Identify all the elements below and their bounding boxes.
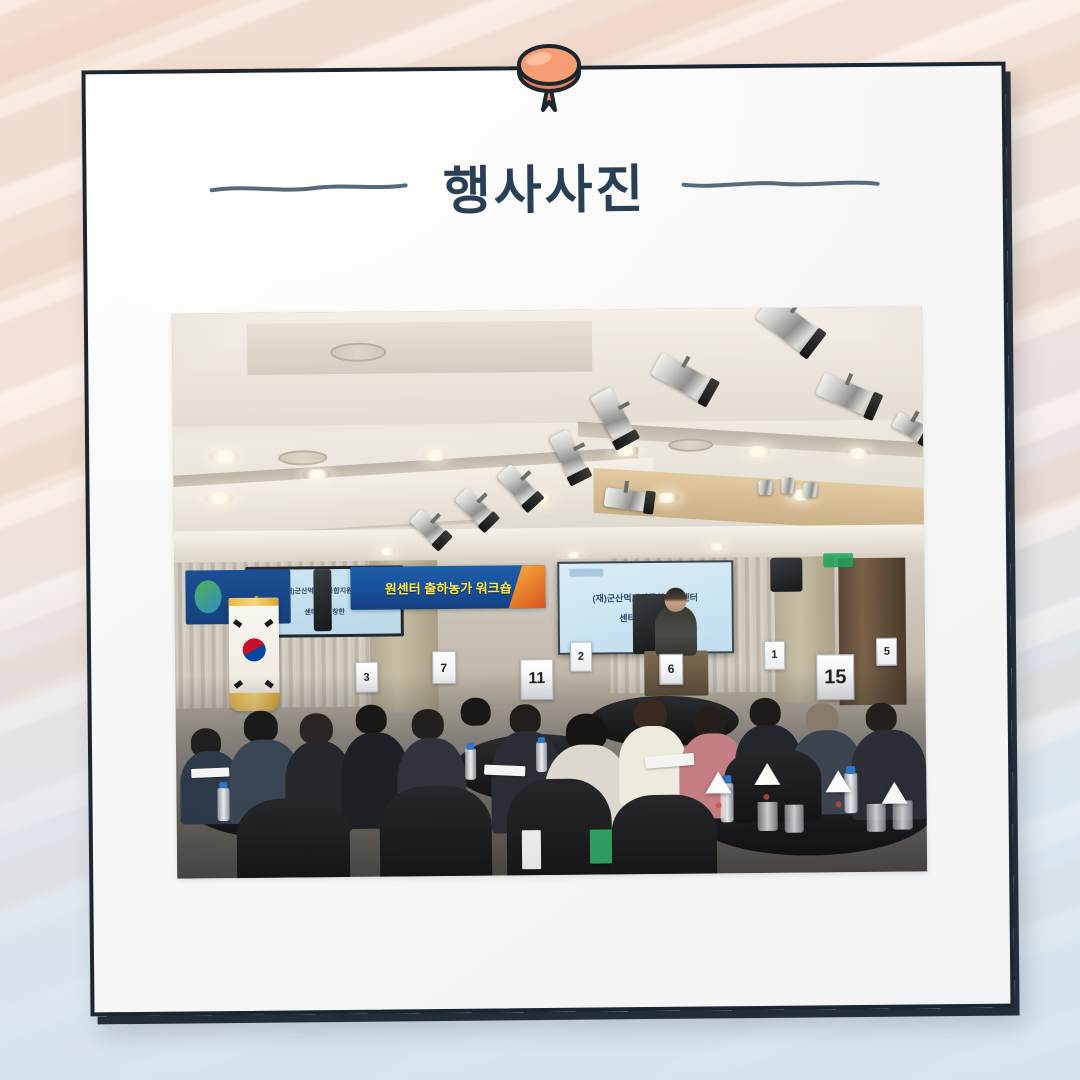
av-rack	[313, 569, 332, 631]
event-banner-text: 원센터 출하농가 워크숍	[385, 578, 512, 598]
drinking-glass	[893, 801, 913, 829]
event-banner: 원센터 출하농가 워크숍	[351, 565, 546, 610]
audience-person	[633, 699, 666, 730]
ceiling-recess-panel	[247, 321, 592, 375]
photo-card: 행사사진	[81, 62, 1014, 1017]
presenter	[655, 605, 697, 656]
drinking-glass	[784, 805, 804, 833]
folded-napkin	[705, 772, 731, 794]
water-bottle	[218, 788, 230, 822]
ceiling-fixture-icon	[758, 480, 772, 495]
ceiling-fixture-icon	[803, 483, 817, 498]
napkin-logo-icon	[715, 803, 721, 809]
flag-fringe-top	[229, 598, 279, 606]
chair	[611, 794, 717, 878]
drinking-glass	[867, 804, 887, 832]
audience-person	[461, 698, 491, 727]
handout-paper	[191, 767, 229, 778]
page-title: 행사사진	[443, 147, 647, 224]
event-photo: (재)군산먹거리통합지원센터 센터장 이창한 원센터 출하농가 워크숍	[172, 306, 927, 878]
squiggle-divider-right-icon	[680, 174, 880, 192]
water-bottle	[536, 742, 548, 771]
folded-napkin	[825, 770, 851, 792]
chair	[236, 798, 349, 879]
downlight-icon	[302, 469, 331, 481]
audience-person	[866, 702, 898, 732]
audience-person	[299, 713, 332, 744]
downlight-icon	[743, 446, 772, 458]
audience-person	[509, 704, 541, 734]
squiggle-divider-left-icon	[209, 179, 409, 197]
chair	[379, 785, 492, 878]
table-number-placard: 1	[764, 641, 785, 669]
photo-card-wrapper: 행사사진	[81, 62, 1014, 1017]
audience-person	[693, 707, 725, 737]
taeguk-symbol-icon	[238, 635, 269, 666]
drinking-glass	[758, 802, 778, 830]
table-number-placard: 2	[569, 642, 592, 672]
audience-person	[749, 698, 781, 728]
folded-napkin	[754, 763, 780, 785]
audience-person	[806, 703, 839, 734]
audience-person	[356, 704, 388, 734]
water-bottle	[465, 749, 477, 780]
downlight-icon	[377, 548, 397, 556]
napkin-logo-icon	[835, 802, 841, 808]
trigram-icon	[264, 619, 273, 627]
screen-tab-icon	[569, 569, 604, 577]
downlight-icon	[208, 450, 241, 464]
page-stage: 행사사진	[0, 0, 1080, 1080]
exit-sign-icon	[823, 553, 853, 568]
presenter-head	[665, 588, 687, 612]
downlight-icon	[844, 448, 871, 459]
ceiling-fixture-icon	[781, 477, 795, 494]
handout-paper	[484, 764, 526, 776]
card-header: 행사사진	[86, 144, 1003, 228]
push-pin-icon[interactable]	[505, 28, 593, 116]
audience-person	[412, 709, 444, 739]
handout-paper	[522, 830, 542, 870]
banner-accent-icon	[509, 565, 546, 608]
trigram-icon	[234, 619, 243, 627]
folded-napkin	[881, 781, 907, 803]
table-number-placard: 5	[876, 637, 897, 665]
pa-speaker	[770, 557, 802, 591]
beverage-can	[589, 829, 612, 863]
audience-person	[243, 711, 278, 743]
wall-sign-logo-icon	[194, 580, 222, 614]
audience-person	[851, 729, 927, 820]
